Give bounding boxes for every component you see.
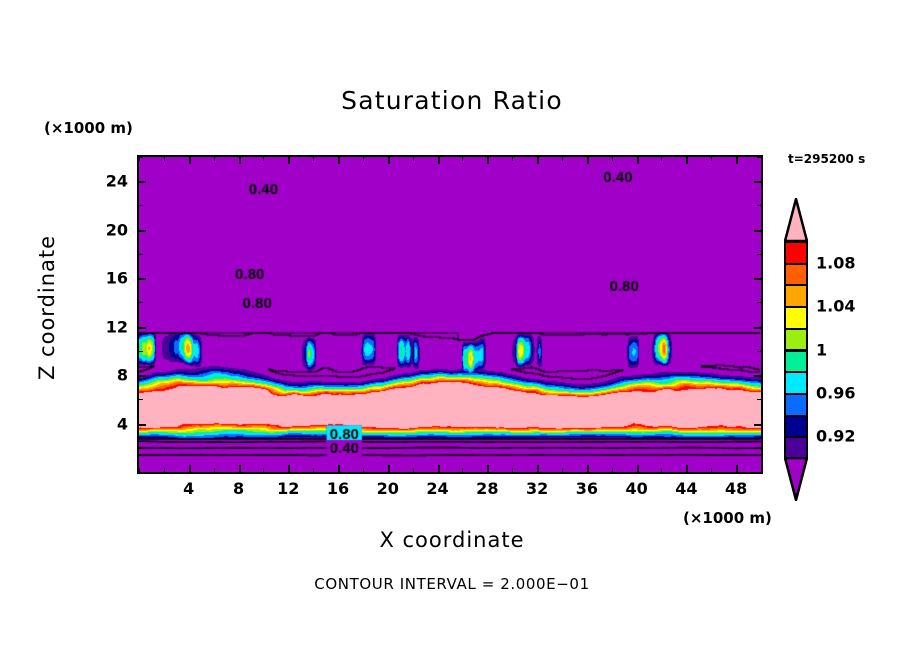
axis-tick [189, 157, 191, 164]
axis-tick [711, 157, 712, 161]
x-axis-tick-label: 44 [675, 479, 697, 498]
contour-interval-note: CONTOUR INTERVAL = 2.000E−01 [0, 575, 904, 593]
axis-tick [512, 468, 513, 472]
colorbar-segment [784, 241, 808, 265]
axis-tick [139, 375, 146, 377]
axis-tick [637, 465, 639, 472]
axis-tick [139, 181, 146, 183]
x-axis-tick-label: 12 [277, 479, 299, 498]
page-title: Saturation Ratio [0, 86, 904, 115]
axis-tick [587, 157, 589, 164]
axis-tick [754, 278, 761, 280]
axis-tick [139, 472, 143, 473]
contour-field-canvas [139, 157, 761, 472]
colorbar-tick-label: 0.92 [816, 427, 855, 446]
axis-tick [512, 157, 513, 161]
y-axis-units: (×1000 m) [44, 119, 133, 137]
axis-tick [288, 157, 290, 164]
contour-plot-area[interactable] [137, 155, 763, 474]
axis-tick [711, 468, 712, 472]
x-axis-tick-label: 36 [576, 479, 598, 498]
axis-tick [189, 465, 191, 472]
axis-tick [537, 157, 539, 164]
colorbar-tick-label: 1.08 [816, 253, 855, 272]
x-axis-tick-label: 20 [377, 479, 399, 498]
axis-tick [164, 157, 165, 161]
colorbar-tick-label: 1 [816, 340, 827, 359]
axis-tick [757, 448, 761, 449]
axis-tick [338, 465, 340, 472]
axis-tick [562, 468, 563, 472]
y-axis-tick-label: 20 [106, 220, 128, 239]
axis-tick [487, 465, 489, 472]
axis-tick [757, 472, 761, 473]
axis-tick [612, 157, 613, 161]
timestamp-label: t=295200 s [788, 152, 865, 166]
colorbar-segment [784, 371, 808, 395]
axis-tick [487, 157, 489, 164]
y-axis-tick-label: 24 [106, 172, 128, 191]
axis-tick [139, 327, 146, 329]
axis-tick [139, 351, 143, 352]
axis-tick [686, 465, 688, 472]
x-axis-tick-label: 40 [625, 479, 647, 498]
axis-tick [438, 157, 440, 164]
colorbar-segment [784, 263, 808, 287]
colorbar[interactable] [784, 241, 808, 458]
axis-tick [761, 157, 762, 161]
axis-tick [736, 465, 738, 472]
axis-tick [413, 468, 414, 472]
axis-tick [164, 468, 165, 472]
axis-tick [736, 157, 738, 164]
axis-tick [757, 302, 761, 303]
axis-tick [288, 465, 290, 472]
axis-tick [388, 465, 390, 472]
x-axis-tick-label: 16 [327, 479, 349, 498]
axis-tick [139, 424, 146, 426]
axis-tick [338, 157, 340, 164]
axis-tick [139, 254, 143, 255]
axis-tick [214, 468, 215, 472]
colorbar-segment [784, 393, 808, 417]
axis-tick [754, 375, 761, 377]
y-axis-tick-label: 4 [117, 414, 128, 433]
x-axis-title: X coordinate [0, 528, 904, 552]
x-axis-tick-label: 8 [233, 479, 244, 498]
colorbar-segment [784, 415, 808, 439]
colorbar-min-arrow [784, 457, 808, 501]
axis-tick [757, 351, 761, 352]
axis-tick [139, 399, 143, 400]
axis-tick [562, 157, 563, 161]
axis-tick [139, 157, 143, 158]
axis-tick [139, 448, 143, 449]
axis-tick [612, 468, 613, 472]
colorbar-tick-label: 0.96 [816, 383, 855, 402]
axis-tick [388, 157, 390, 164]
colorbar-segment [784, 306, 808, 330]
x-axis-units: (×1000 m) [683, 509, 772, 527]
axis-tick [462, 468, 463, 472]
axis-tick [587, 465, 589, 472]
axis-tick [139, 205, 143, 206]
axis-tick [637, 157, 639, 164]
axis-tick [761, 468, 762, 472]
axis-tick [754, 327, 761, 329]
x-axis-tick-label: 24 [426, 479, 448, 498]
axis-tick [757, 205, 761, 206]
axis-tick [754, 424, 761, 426]
y-axis-tick-label: 8 [117, 366, 128, 385]
axis-tick [754, 230, 761, 232]
colorbar-segment [784, 328, 808, 352]
x-axis-tick-label: 28 [476, 479, 498, 498]
axis-tick [757, 157, 761, 158]
colorbar-max-arrow [784, 198, 808, 242]
axis-tick [313, 157, 314, 161]
axis-tick [263, 468, 264, 472]
axis-tick [139, 278, 146, 280]
axis-tick [139, 230, 146, 232]
colorbar-tick-label: 1.04 [816, 297, 855, 316]
axis-tick [438, 465, 440, 472]
axis-tick [757, 399, 761, 400]
x-axis-tick-label: 48 [725, 479, 747, 498]
axis-tick [239, 157, 241, 164]
axis-tick [661, 468, 662, 472]
axis-tick [537, 465, 539, 472]
axis-tick [462, 157, 463, 161]
axis-tick [661, 157, 662, 161]
axis-tick [757, 254, 761, 255]
axis-tick [214, 157, 215, 161]
axis-tick [754, 181, 761, 183]
axis-tick [239, 465, 241, 472]
axis-tick [139, 302, 143, 303]
axis-tick [363, 157, 364, 161]
x-axis-tick-label: 4 [183, 479, 194, 498]
y-axis-tick-label: 12 [106, 317, 128, 336]
x-axis-tick-label: 32 [526, 479, 548, 498]
axis-tick [363, 468, 364, 472]
colorbar-segment [784, 284, 808, 308]
y-axis-tick-label: 16 [106, 269, 128, 288]
y-axis-title: Z coordinate [35, 260, 59, 380]
colorbar-segment [784, 350, 808, 374]
axis-tick [263, 157, 264, 161]
axis-tick [686, 157, 688, 164]
axis-tick [313, 468, 314, 472]
axis-tick [413, 157, 414, 161]
